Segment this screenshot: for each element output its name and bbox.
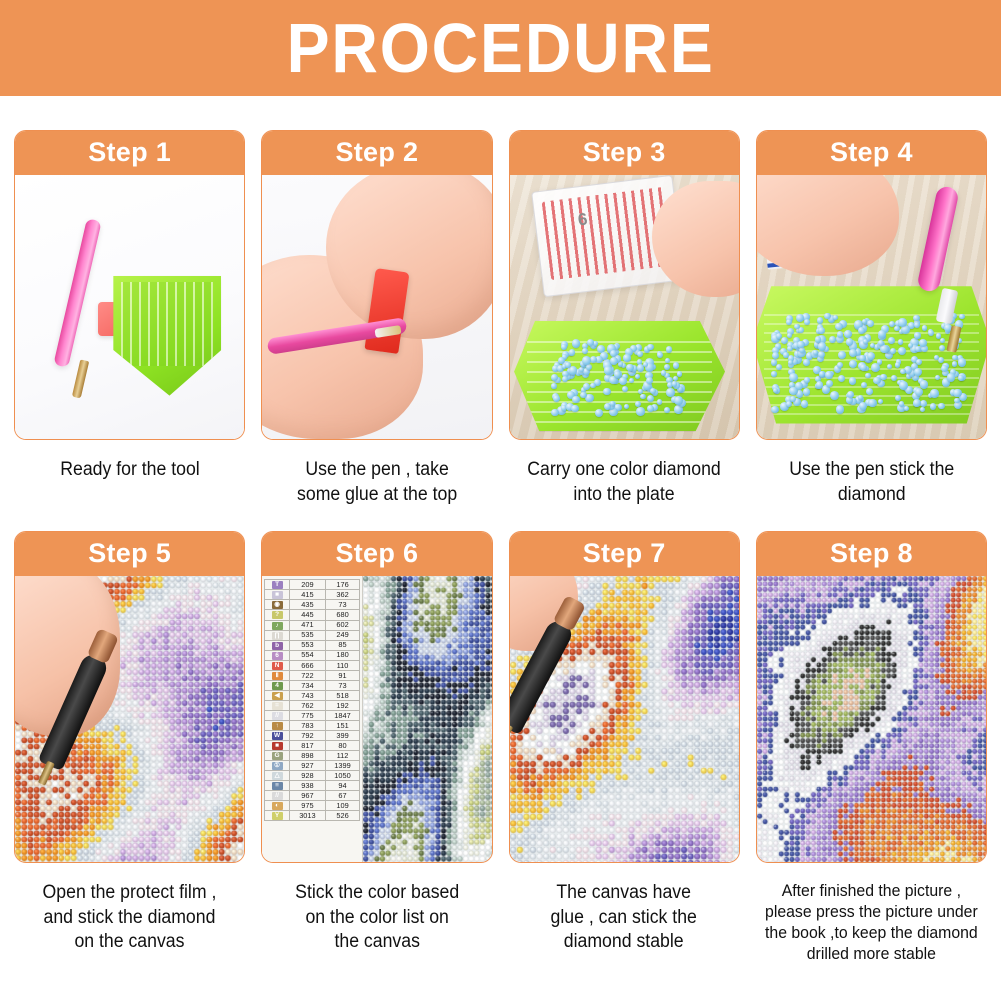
step-header-8: Step 8	[757, 532, 986, 576]
color-chart-row: ?445680	[265, 610, 360, 620]
color-chart-dmc: 471	[289, 620, 325, 630]
blue-diamond	[899, 401, 905, 407]
blue-diamond	[920, 407, 925, 412]
color-chart-count: 180	[325, 650, 359, 660]
blue-diamond	[818, 351, 825, 358]
blue-diamond	[787, 333, 793, 339]
blue-diamond	[861, 382, 867, 388]
page-banner: PROCEDURE	[0, 0, 1001, 96]
blue-diamond	[657, 352, 663, 358]
blue-diamond	[776, 364, 782, 370]
step-image-7	[510, 576, 739, 862]
blue-diamond	[794, 324, 800, 330]
blue-diamond	[674, 396, 683, 405]
blue-diamonds-group	[771, 313, 968, 419]
color-chart-row: ↑783151	[265, 720, 360, 730]
color-chart-symbol: N	[265, 660, 290, 670]
blue-diamond	[783, 352, 788, 357]
blue-diamond	[891, 375, 897, 381]
color-chart-count: 80	[325, 741, 359, 751]
step-image-6: T209176■415362◉43573?445680♪471602∏53524…	[262, 576, 491, 862]
color-chart-row: Y3013526	[265, 811, 360, 821]
green-tray-icon	[113, 276, 221, 396]
blue-diamond	[771, 371, 776, 376]
blue-diamond	[954, 398, 960, 404]
blue-diamond	[562, 376, 568, 382]
blue-diamond	[829, 336, 836, 343]
color-chart-symbol: ■	[265, 741, 290, 751]
scene-canvas-mosaic-5	[15, 576, 244, 862]
blue-diamond	[572, 339, 580, 347]
step-caption-4: Use the pen stick the diamond	[789, 458, 954, 507]
blue-diamond	[789, 387, 798, 396]
blue-diamond	[626, 364, 634, 372]
blue-diamond	[898, 347, 906, 355]
blue-diamond	[830, 391, 839, 400]
color-chart-dmc: 554	[289, 650, 325, 660]
blue-diamond	[849, 377, 857, 385]
color-chart-count: 602	[325, 620, 359, 630]
color-chart-row: b55385	[265, 640, 360, 650]
blue-diamond	[797, 341, 805, 349]
blue-diamond	[790, 396, 796, 402]
blue-diamond	[664, 364, 670, 370]
color-chart-row: W792399	[265, 731, 360, 741]
blue-diamond	[952, 361, 957, 366]
blue-diamond	[890, 348, 896, 354]
scene-color-chart-and-canvas: T209176■415362◉43573?445680♪471602∏53524…	[262, 576, 491, 862]
blue-diamond	[930, 403, 937, 410]
step-header-3: Step 3	[510, 131, 739, 175]
step-header-5: Step 5	[15, 532, 244, 576]
color-chart-dmc: 898	[289, 751, 325, 761]
blue-diamond	[913, 399, 921, 407]
blue-diamond	[939, 345, 945, 351]
color-chart-dmc: 928	[289, 771, 325, 781]
color-chart-count: 399	[325, 731, 359, 741]
blue-diamond	[629, 378, 634, 383]
color-chart-row: ∏535249	[265, 630, 360, 640]
blue-diamond	[837, 362, 843, 368]
blue-diamond	[817, 317, 823, 323]
blue-diamond	[908, 343, 913, 348]
diamond-canvas-icon	[363, 576, 491, 862]
color-chart-count: 526	[325, 811, 359, 821]
scene-hands-with-glue	[262, 175, 491, 439]
color-chart-count: 67	[325, 791, 359, 801]
blue-diamond	[958, 358, 967, 367]
blue-diamond	[623, 354, 630, 361]
blue-diamond	[865, 373, 871, 379]
blue-diamond	[646, 377, 653, 384]
step-cell-5: Step 5 Open the protect film , and stick…	[14, 531, 245, 964]
color-chart-symbol: ◉	[265, 600, 290, 610]
blue-diamond	[647, 344, 654, 351]
color-chart-table: T209176■415362◉43573?445680♪471602∏53524…	[264, 579, 360, 821]
blue-diamond	[635, 374, 640, 379]
color-chart-dmc: 734	[289, 680, 325, 690]
blue-diamond	[849, 360, 857, 368]
pink-drill-pen-icon	[53, 218, 101, 368]
step-cell-8: Step 8 After finished the picture , plea…	[756, 531, 987, 964]
blue-diamond	[571, 405, 578, 412]
steps-grid: Step 1 Ready for the tool Step 2	[0, 96, 1001, 964]
color-chart-count: 362	[325, 590, 359, 600]
color-chart-symbol: ①	[265, 761, 290, 771]
color-chart-count: 151	[325, 720, 359, 730]
color-chart-count: 680	[325, 610, 359, 620]
step-caption-8: After finished the picture , please pres…	[765, 881, 978, 964]
blue-diamond	[900, 369, 905, 374]
step-card-8[interactable]: Step 8	[756, 531, 987, 863]
color-chart-symbol: ∏	[265, 630, 290, 640]
color-chart-dmc: 553	[289, 640, 325, 650]
color-chart-count: 91	[325, 670, 359, 680]
step-card-1[interactable]: Step 1	[14, 130, 245, 440]
blue-diamond	[595, 409, 603, 417]
blue-diamond	[561, 344, 567, 350]
blue-diamond	[640, 394, 645, 399]
step-cell-3: Step 3 6 Carry one color diamond into th…	[509, 130, 740, 507]
step-caption-2: Use the pen , take some glue at the top	[297, 458, 457, 507]
color-chart-row: 6554180	[265, 650, 360, 660]
blue-diamond	[551, 409, 558, 416]
step-image-4	[757, 175, 986, 439]
color-chart-symbol: 4	[265, 680, 290, 690]
blue-diamond	[657, 399, 663, 405]
blue-diamond	[844, 330, 852, 338]
color-chart-count: 94	[325, 781, 359, 791]
color-chart-count: 1050	[325, 771, 359, 781]
color-chart-row: ♪471602	[265, 620, 360, 630]
blue-diamond	[833, 315, 838, 320]
color-chart-symbol: △	[265, 771, 290, 781]
color-chart-count: 73	[325, 680, 359, 690]
blue-diamond	[958, 375, 964, 381]
blue-diamond	[804, 319, 810, 325]
color-chart-symbol: T	[265, 580, 290, 590]
blue-diamond	[803, 359, 810, 366]
blue-diamond	[838, 351, 846, 359]
color-chart-dmc: 775	[289, 710, 325, 720]
color-chart-dmc: 535	[289, 630, 325, 640]
blue-diamond	[776, 333, 782, 339]
color-chart-row: G898112	[265, 751, 360, 761]
color-chart-symbol: W	[265, 731, 290, 741]
color-chart-dmc: 415	[289, 590, 325, 600]
blue-diamond	[803, 388, 810, 395]
blue-diamond	[873, 377, 880, 384]
blue-diamond	[835, 323, 843, 331]
blue-diamond	[819, 371, 825, 377]
blue-diamond	[953, 389, 962, 398]
color-chart-row: Ⅱ72291	[265, 670, 360, 680]
blue-diamond	[928, 330, 934, 336]
blue-diamond	[880, 345, 888, 353]
color-chart-symbol: //	[265, 710, 290, 720]
blue-diamond	[935, 375, 940, 380]
color-chart-dmc: 938	[289, 781, 325, 791]
blue-diamond	[825, 371, 832, 378]
blue-diamond	[624, 404, 629, 409]
blue-diamond	[786, 319, 792, 325]
blue-diamond	[664, 407, 671, 414]
color-chart-dmc: 435	[289, 600, 325, 610]
blue-diamond	[551, 374, 558, 381]
step-caption-6: Stick the color based on the color list …	[295, 881, 459, 954]
blue-diamond	[868, 399, 877, 408]
blue-diamond	[866, 388, 873, 395]
blue-diamond	[647, 405, 654, 412]
blue-diamond	[789, 373, 798, 382]
color-chart-dmc: 445	[289, 610, 325, 620]
color-chart-count: 85	[325, 640, 359, 650]
blue-diamond	[914, 368, 922, 376]
step-image-1	[15, 175, 244, 439]
step-header-4: Step 4	[757, 131, 986, 175]
blue-diamond	[914, 322, 920, 328]
blue-diamond	[898, 318, 907, 327]
scene-canvas-mosaic-7	[510, 576, 739, 862]
blue-diamond	[858, 327, 865, 334]
blue-diamond	[826, 380, 833, 387]
diamond-canvas-icon	[757, 576, 986, 862]
blue-diamond	[586, 364, 592, 370]
blue-diamond	[938, 403, 945, 410]
color-chart-dmc: 762	[289, 700, 325, 710]
color-chart-count: 249	[325, 630, 359, 640]
color-chart-dmc: 783	[289, 720, 325, 730]
color-chart-count: 1847	[325, 710, 359, 720]
color-chart-row: T209176	[265, 580, 360, 590]
blue-diamond	[888, 337, 895, 344]
blue-diamond	[622, 386, 629, 393]
blue-diamond	[846, 338, 853, 345]
color-chart-count: 73	[325, 600, 359, 610]
color-chart-dmc: 975	[289, 801, 325, 811]
color-chart-dmc: 666	[289, 660, 325, 670]
blue-diamond	[904, 406, 909, 411]
blue-diamond	[580, 392, 586, 398]
blue-diamond	[836, 405, 844, 413]
step-card-2[interactable]: Step 2	[261, 130, 492, 440]
blue-diamond	[796, 314, 804, 322]
color-chart-dmc: 817	[289, 741, 325, 751]
blue-diamond	[867, 320, 874, 327]
blue-diamond	[647, 395, 654, 402]
step-card-3[interactable]: Step 3 6	[509, 130, 740, 440]
color-chart-row: ≡93894	[265, 781, 360, 791]
blue-diamond	[582, 348, 588, 354]
color-chart-count: 176	[325, 580, 359, 590]
blue-diamond	[898, 339, 904, 345]
blue-diamond	[922, 325, 927, 330]
color-chart-row: △9281050	[265, 771, 360, 781]
blue-diamond	[801, 400, 808, 407]
step-card-6[interactable]: Step 6 T209176■415362◉43573?445680♪47160…	[261, 531, 492, 863]
blue-diamonds-group	[551, 339, 684, 418]
blue-diamond	[553, 395, 560, 402]
color-symbol-chart[interactable]: T209176■415362◉43573?445680♪471602∏53524…	[262, 576, 363, 862]
blue-diamond	[878, 399, 883, 404]
blue-diamond	[619, 377, 628, 386]
color-chart-symbol: =	[265, 700, 290, 710]
blue-diamond	[859, 355, 866, 362]
blue-diamond	[604, 366, 612, 374]
color-chart-symbol: Y	[265, 811, 290, 821]
blue-diamond	[772, 352, 779, 359]
blue-diamond	[677, 371, 683, 377]
blue-diamond	[572, 396, 579, 403]
step-cell-7: Step 7 The canvas have glue , can stick …	[509, 531, 740, 964]
blue-diamond	[551, 383, 556, 388]
step-image-5	[15, 576, 244, 862]
step-header-1: Step 1	[15, 131, 244, 175]
color-chart-dmc: 3013	[289, 811, 325, 821]
color-chart-dmc: 792	[289, 731, 325, 741]
blue-diamond	[565, 362, 570, 367]
blue-diamond	[666, 388, 674, 396]
color-chart-row: ①9271399	[265, 761, 360, 771]
blue-diamond	[666, 346, 673, 353]
color-chart-count: 112	[325, 751, 359, 761]
color-chart-count: 110	[325, 660, 359, 670]
blue-diamond	[610, 401, 615, 406]
blue-diamond	[673, 376, 678, 381]
step-cell-4: Step 4 Use the pen stick the diamond	[756, 130, 987, 507]
blue-diamond	[859, 402, 867, 410]
color-chart-row: N666110	[265, 660, 360, 670]
blue-diamond	[635, 401, 641, 407]
color-chart-dmc: 743	[289, 690, 325, 700]
step-card-7[interactable]: Step 7	[509, 531, 740, 863]
blue-diamond	[587, 339, 594, 346]
blue-diamond	[838, 375, 845, 382]
step-header-6: Step 6	[262, 532, 491, 576]
blue-diamond	[919, 339, 927, 347]
color-chart-row: ◀743518	[265, 690, 360, 700]
blue-diamond	[665, 358, 670, 363]
scene-finished-painting	[757, 576, 986, 862]
blue-diamond	[940, 338, 945, 343]
color-chart-symbol: ♪	[265, 620, 290, 630]
blue-diamond	[867, 352, 875, 360]
pen-tip-icon	[72, 360, 89, 399]
step-caption-1: Ready for the tool	[60, 458, 199, 482]
blue-diamond	[959, 314, 964, 319]
step-image-3: 6	[510, 175, 739, 439]
color-chart-symbol: ■	[265, 590, 290, 600]
color-chart-symbol: ≡	[265, 781, 290, 791]
step-caption-3: Carry one color diamond into the plate	[527, 458, 720, 507]
step-caption-5: Open the protect film , and stick the di…	[43, 881, 217, 954]
color-chart-symbol: //	[265, 791, 290, 801]
color-chart-row: ◐975109	[265, 801, 360, 811]
blue-diamond	[788, 360, 793, 365]
blue-diamond	[771, 406, 778, 413]
color-chart-symbol: ?	[265, 610, 290, 620]
blue-diamond	[673, 362, 680, 369]
step-card-5[interactable]: Step 5	[14, 531, 245, 863]
blue-diamond	[913, 315, 919, 321]
color-chart-dmc: 209	[289, 580, 325, 590]
color-chart-count: 192	[325, 700, 359, 710]
blue-diamond	[878, 340, 884, 346]
color-chart-symbol: 6	[265, 650, 290, 660]
scene-tools-on-white	[15, 175, 244, 439]
step-header-2: Step 2	[262, 131, 491, 175]
color-chart-row: //96767	[265, 791, 360, 801]
color-chart-dmc: 967	[289, 791, 325, 801]
blue-diamond	[895, 362, 901, 368]
blue-diamond	[637, 351, 643, 357]
blue-diamond	[899, 381, 908, 390]
blue-diamond	[804, 377, 810, 383]
color-chart-count: 109	[325, 801, 359, 811]
blue-diamond	[887, 364, 892, 369]
color-chart-row: =762192	[265, 700, 360, 710]
step-image-8	[757, 576, 986, 862]
page-title: PROCEDURE	[286, 13, 714, 83]
color-chart-symbol: G	[265, 751, 290, 761]
color-chart-row: ◉43573	[265, 600, 360, 610]
blue-diamond	[813, 350, 818, 355]
step-cell-1: Step 1 Ready for the tool	[14, 130, 245, 507]
color-chart-row: 473473	[265, 680, 360, 690]
blue-diamond	[930, 389, 938, 397]
blue-diamond	[771, 359, 778, 366]
color-chart-row: //7751847	[265, 710, 360, 720]
blue-diamond	[847, 391, 854, 398]
step-image-2	[262, 175, 491, 439]
color-chart-dmc: 722	[289, 670, 325, 680]
blue-diamond	[822, 385, 830, 393]
color-chart-symbol: b	[265, 640, 290, 650]
color-chart-count: 1399	[325, 761, 359, 771]
color-chart-symbol: Ⅱ	[265, 670, 290, 680]
color-chart-count: 518	[325, 690, 359, 700]
blue-diamond	[947, 373, 956, 382]
color-chart-symbol: ◐	[265, 801, 290, 811]
color-chart-row: ■81780	[265, 741, 360, 751]
scene-pen-picking-diamond	[757, 175, 986, 439]
blue-diamond	[603, 388, 611, 396]
step-cell-6: Step 6 T209176■415362◉43573?445680♪47160…	[261, 531, 492, 964]
color-chart-symbol: ◀	[265, 690, 290, 700]
color-chart-dmc: 927	[289, 761, 325, 771]
color-chart-row: ■415362	[265, 590, 360, 600]
blue-diamond	[837, 331, 843, 337]
scene-bag-pour-into-tray: 6	[510, 175, 739, 439]
color-chart-symbol: ↑	[265, 720, 290, 730]
blue-diamond	[583, 383, 590, 390]
blue-diamond	[610, 357, 618, 365]
blue-diamond	[871, 363, 880, 372]
blue-diamond	[916, 359, 922, 365]
step-card-4[interactable]: Step 4	[756, 130, 987, 440]
step-cell-2: Step 2 Use the pen , take some glue at t…	[261, 130, 492, 507]
blue-diamond	[590, 383, 595, 388]
blue-diamond	[569, 349, 575, 355]
step-caption-7: The canvas have glue , can stick the dia…	[551, 881, 697, 954]
blue-diamond	[815, 336, 821, 342]
blue-diamond	[880, 374, 887, 381]
step-header-7: Step 7	[510, 532, 739, 576]
blue-diamond	[914, 332, 920, 338]
blue-diamond	[915, 388, 923, 396]
blue-diamond	[636, 407, 644, 415]
blue-diamond	[818, 327, 825, 334]
